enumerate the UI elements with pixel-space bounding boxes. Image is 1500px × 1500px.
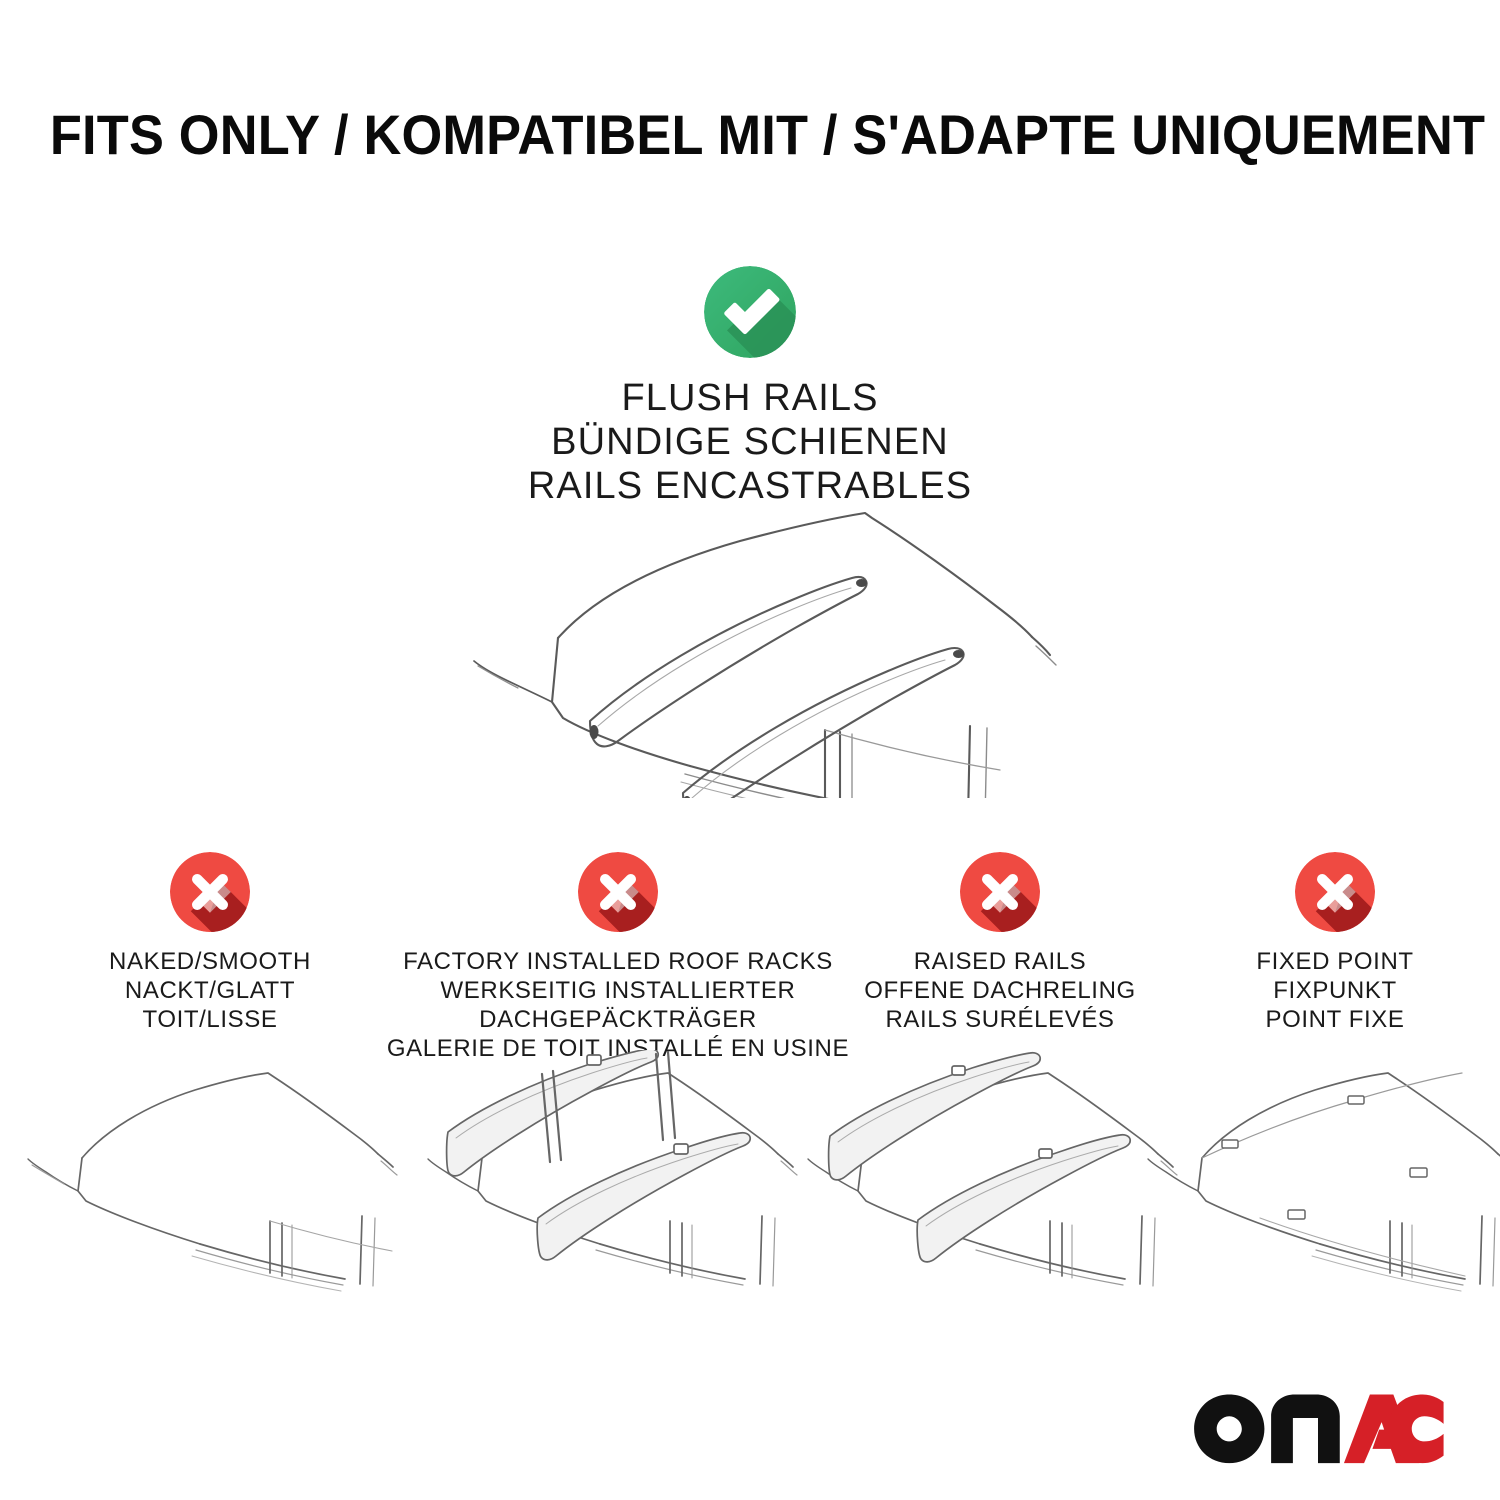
- excluded-labels-naked-smooth: NAKED/SMOOTH NACKT/GLATT TOIT/LISSE: [10, 947, 410, 1034]
- excluded-label-fr: TOIT/LISSE: [10, 1005, 410, 1034]
- approved-section: FLUSH RAILS BÜNDIGE SCHIENEN RAILS ENCAS…: [250, 266, 1250, 508]
- x-circle-icon: [578, 852, 658, 932]
- car-roof-naked-illustration: [20, 1058, 410, 1293]
- excluded-label-fr: RAILS SURÉLEVÉS: [790, 1005, 1210, 1034]
- omac-letter-m: [1271, 1395, 1340, 1464]
- car-roof-flush-rails-illustration: [440, 498, 1070, 798]
- approved-label-en: FLUSH RAILS: [250, 376, 1250, 420]
- header: FITS ONLY / KOMPATIBEL MIT / S'ADAPTE UN…: [0, 104, 1500, 166]
- car-roof-factory-rack-illustration: [420, 1050, 810, 1285]
- car-roof-raised-rails-illustration: [800, 1050, 1190, 1285]
- car-roof-fixed-point-illustration: [1140, 1058, 1500, 1293]
- excluded-column-fixed-point: FIXED POINT FIXPUNKT POINT FIXE: [1150, 852, 1500, 1034]
- excluded-label-de: NACKT/GLATT: [10, 976, 410, 1005]
- x-circle-icon: [1295, 852, 1375, 932]
- excluded-column-raised-rails: RAISED RAILS OFFENE DACHRELING RAILS SUR…: [790, 852, 1210, 1034]
- excluded-label-en: FIXED POINT: [1150, 947, 1500, 976]
- omac-logo: OMAC: [1192, 1392, 1444, 1464]
- excluded-label-en: NAKED/SMOOTH: [10, 947, 410, 976]
- check-circle-icon: [704, 266, 796, 358]
- x-circle-icon: [960, 852, 1040, 932]
- omac-letter-o: [1194, 1395, 1264, 1464]
- approved-labels: FLUSH RAILS BÜNDIGE SCHIENEN RAILS ENCAS…: [250, 376, 1250, 508]
- excluded-label-en: RAISED RAILS: [790, 947, 1210, 976]
- excluded-label-de: FIXPUNKT: [1150, 976, 1500, 1005]
- excluded-section: NAKED/SMOOTH NACKT/GLATT TOIT/LISSE: [0, 852, 1500, 1082]
- excluded-labels-fixed-point: FIXED POINT FIXPUNKT POINT FIXE: [1150, 947, 1500, 1034]
- approved-label-de: BÜNDIGE SCHIENEN: [250, 420, 1250, 464]
- excluded-label-de: OFFENE DACHRELING: [790, 976, 1210, 1005]
- x-circle-icon: [170, 852, 250, 932]
- excluded-label-fr: POINT FIXE: [1150, 1005, 1500, 1034]
- excluded-column-naked-smooth: NAKED/SMOOTH NACKT/GLATT TOIT/LISSE: [10, 852, 410, 1034]
- page-title: FITS ONLY / KOMPATIBEL MIT / S'ADAPTE UN…: [50, 104, 1485, 166]
- excluded-labels-raised-rails: RAISED RAILS OFFENE DACHRELING RAILS SUR…: [790, 947, 1210, 1034]
